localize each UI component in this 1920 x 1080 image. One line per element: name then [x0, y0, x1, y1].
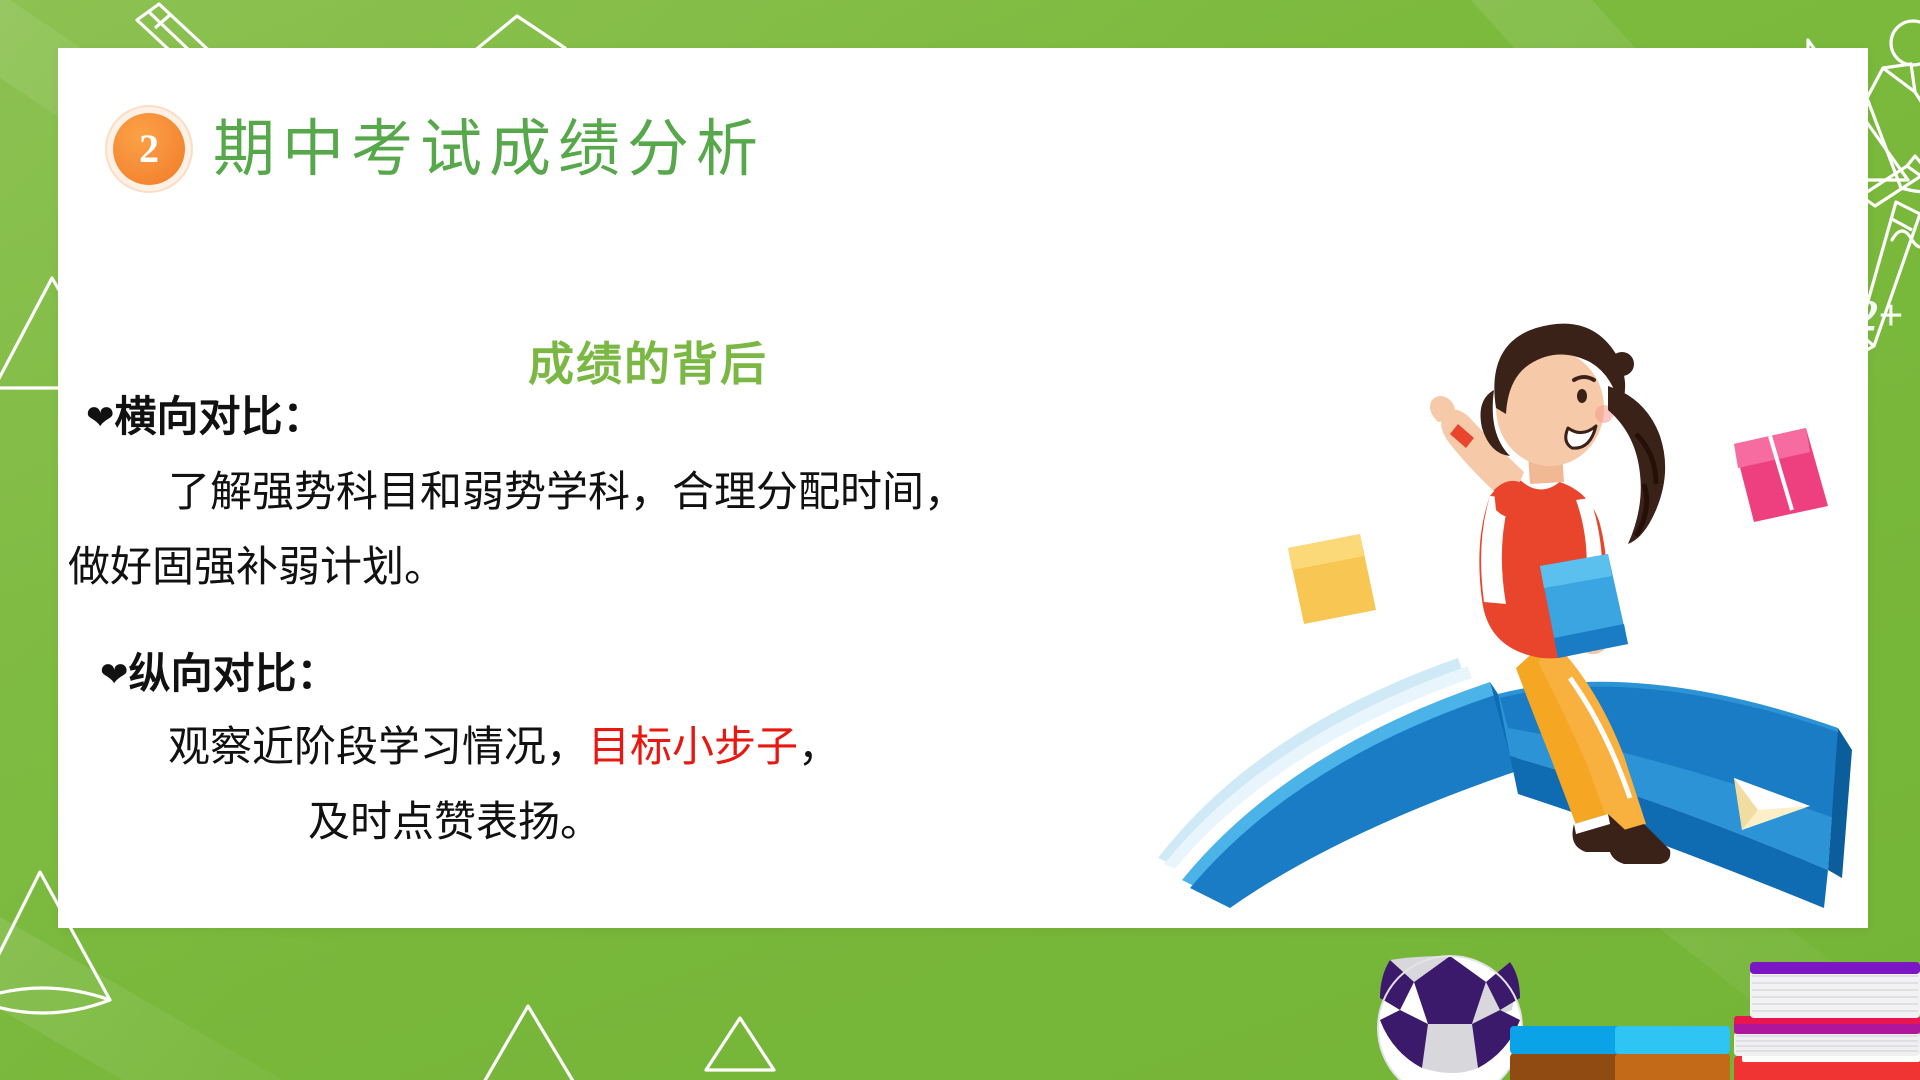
triangle-doodle-2 — [470, 1000, 590, 1080]
bullet-label-vertical: 纵向对比： — [129, 649, 339, 698]
paragraph-vertical-line1-plain-a: 观察近阶段学习情况， — [168, 722, 588, 771]
bullet-item-horizontal: ❤横向对比： — [86, 383, 325, 444]
bullet-item-vertical: ❤纵向对比： — [100, 640, 339, 701]
section-number: 2 — [139, 129, 159, 169]
paragraph-horizontal-line2: 做好固强补弱计划。 — [68, 533, 446, 594]
content-card: 2 期中考试成绩分析 成绩的背后 ❤横向对比： 了解强势科目和弱势学科，合理分配… — [58, 48, 1868, 928]
paragraph-vertical-line1-plain-b: ， — [798, 722, 840, 771]
slide-root: 2+ 2 期中考试成绩分析 成绩的背后 ❤横向对比： 了解强势科目和弱势学科，合… — [0, 0, 1920, 1080]
note-yellow — [1288, 534, 1376, 624]
book-stack-blue — [1510, 1026, 1730, 1080]
bottom-props — [1360, 820, 1920, 1080]
note-pink — [1734, 428, 1828, 522]
bullet-label-horizontal: 横向对比： — [115, 392, 325, 441]
paragraph-horizontal-line1: 了解强势科目和弱势学科，合理分配时间， — [168, 458, 966, 519]
book-stack-red — [1734, 962, 1920, 1080]
light-streak-4 — [0, 905, 430, 1080]
heart-icon: ❤ — [86, 398, 115, 438]
soccer-ball — [1378, 956, 1522, 1080]
page-title: 2 期中考试成绩分析 — [113, 113, 765, 185]
section-number-badge: 2 — [113, 113, 185, 185]
paragraph-vertical-line2: 及时点赞表扬。 — [308, 788, 602, 849]
heading-text: 期中考试成绩分析 — [213, 118, 765, 180]
triangle-doodle-3 — [700, 1010, 780, 1080]
heart-icon: ❤ — [100, 655, 129, 695]
highlight-text: 目标小步子 — [588, 722, 798, 771]
squiggle-doodle — [1886, 216, 1920, 256]
paragraph-vertical-line1: 观察近阶段学习情况，目标小步子， — [168, 713, 840, 774]
sphere-doodle — [1878, 8, 1920, 78]
